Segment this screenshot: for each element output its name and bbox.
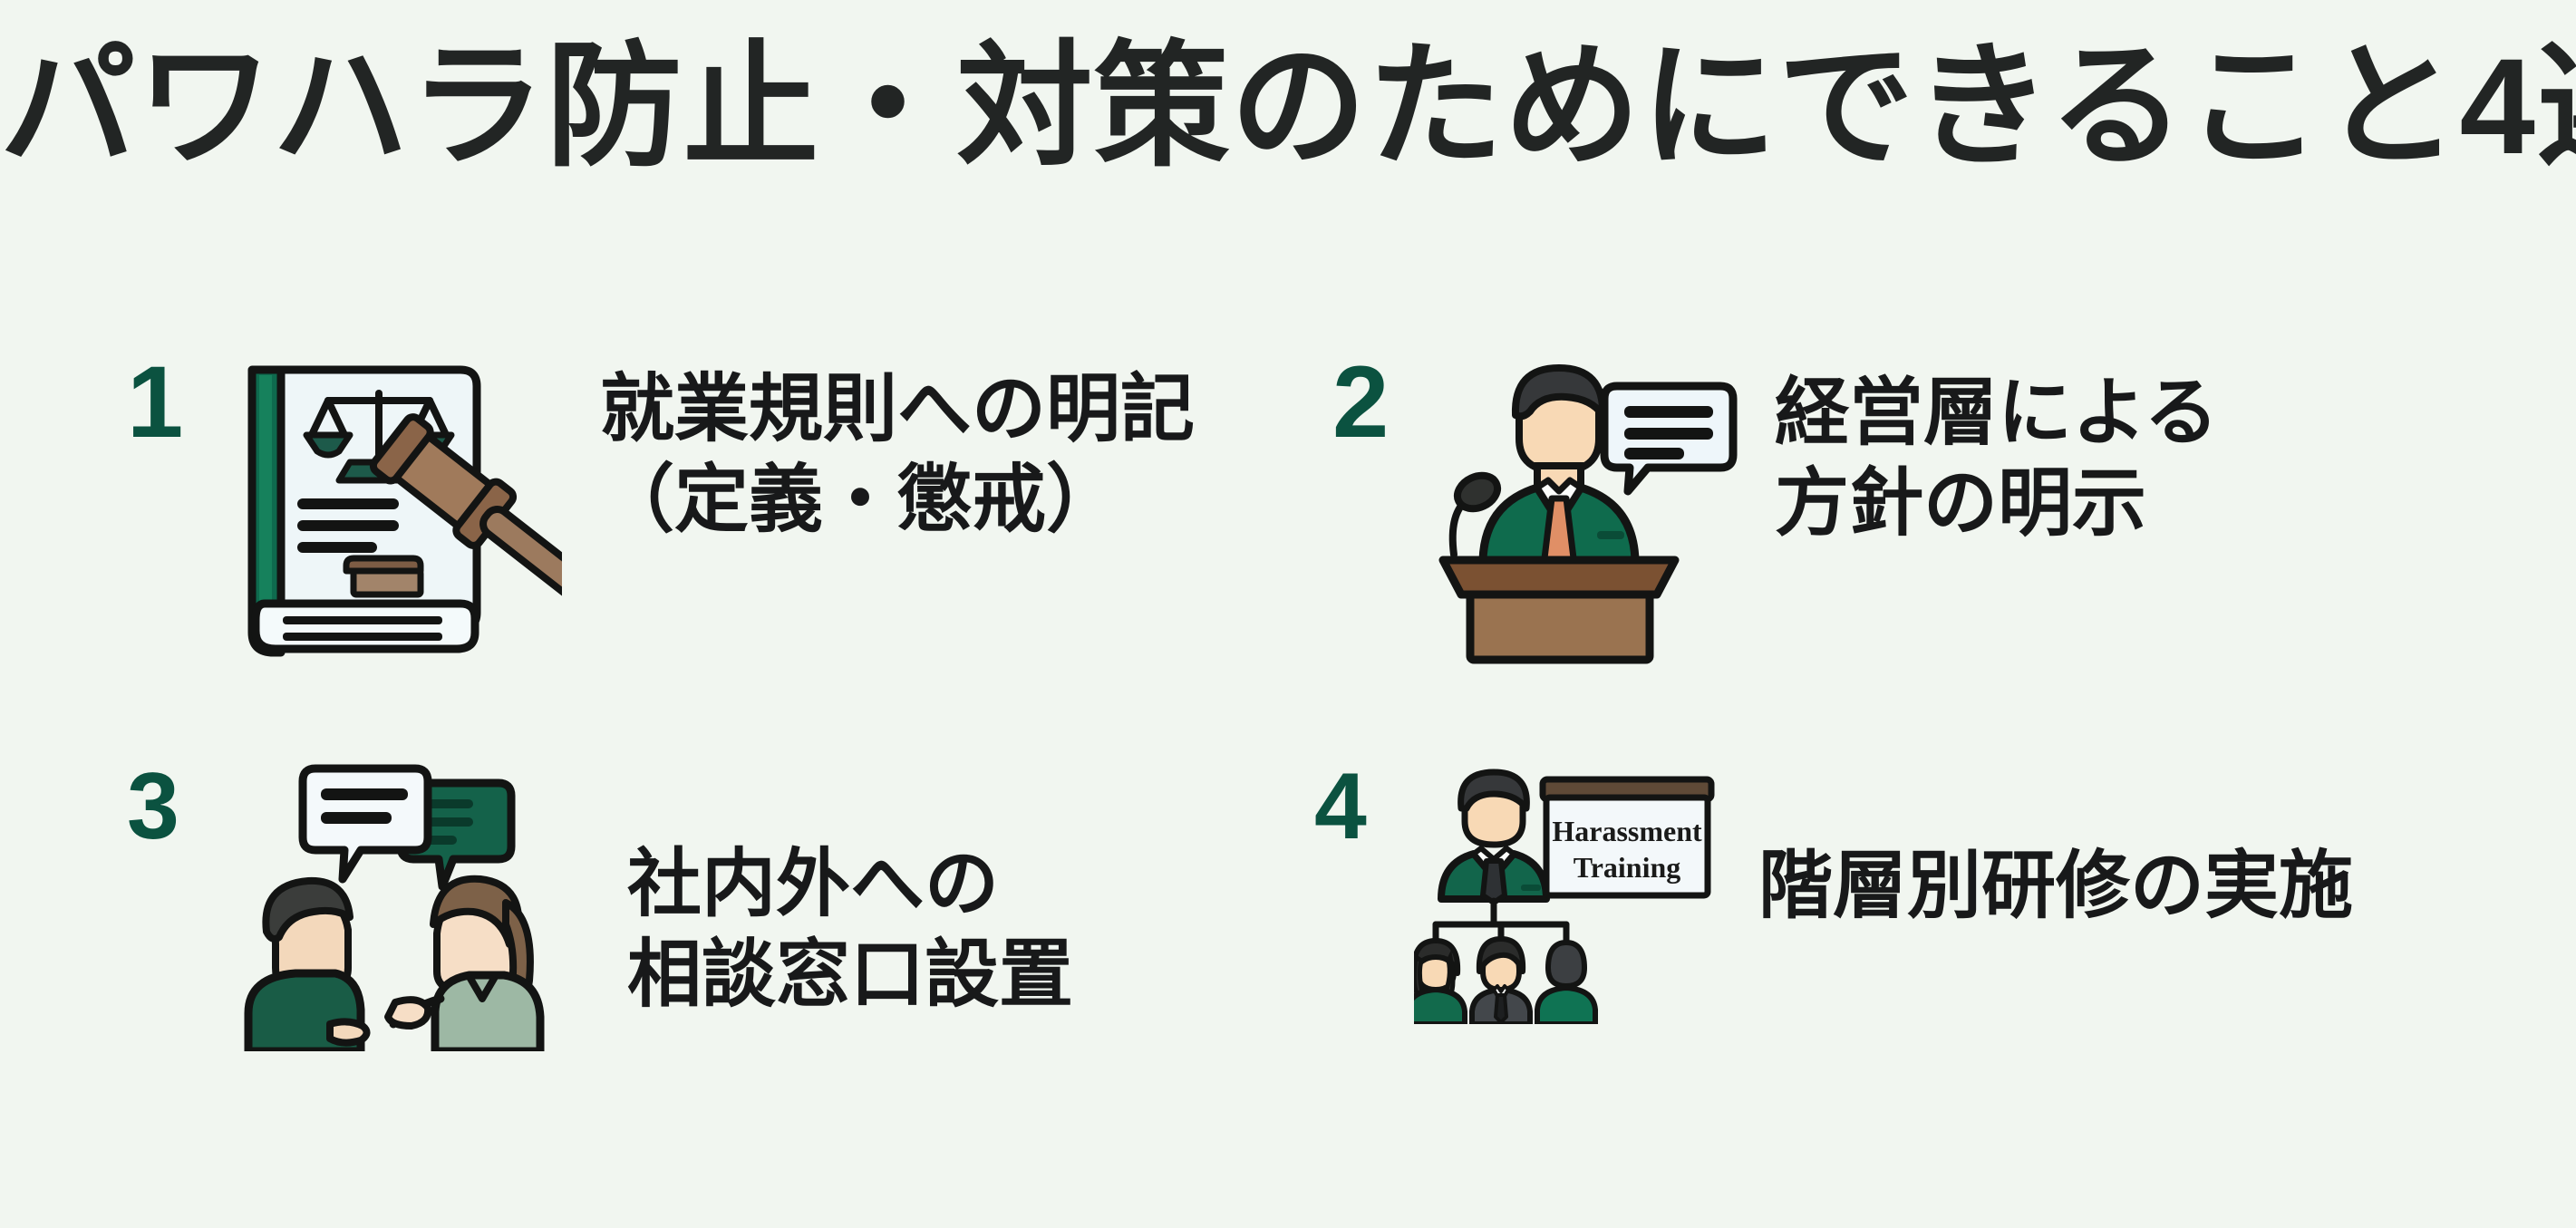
items-grid: 1 [0, 326, 2576, 1142]
list-item: 2 [1332, 344, 2219, 675]
page-title: パワハラ防止・対策のためにできること4選 [0, 38, 2576, 174]
item-label-line: 社内外への [627, 839, 1073, 930]
harassment-training-session-icon: Harassment Training [1414, 752, 1731, 1029]
list-item: 1 [127, 344, 1195, 666]
item-number: 4 [1314, 752, 1414, 854]
item-label: 階層別研修の実施 [1731, 752, 2353, 932]
executive-podium-speech-icon [1432, 344, 1740, 675]
item-label-line: 就業規則への明記 [600, 364, 1195, 455]
item-label-line: 経営層による [1775, 368, 2219, 459]
item-number: 1 [127, 344, 227, 453]
item-label-line: 階層別研修の実施 [1758, 841, 2353, 932]
whiteboard-text-line1: Harassment [1552, 815, 1702, 847]
law-book-gavel-icon [227, 344, 562, 666]
item-label: 就業規則への明記 （定義・懲戒） [562, 344, 1195, 546]
two-people-consultation-icon [227, 752, 607, 1056]
item-number: 2 [1332, 344, 1432, 453]
item-label: 経営層による 方針の明示 [1740, 344, 2219, 549]
slide-canvas: パワハラ防止・対策のためにできること4選 1 [0, 0, 2576, 1228]
item-label-line: 相談窓口設置 [627, 930, 1073, 1020]
item-label-line: 方針の明示 [1775, 459, 2219, 549]
list-item: 3 [127, 752, 1073, 1056]
item-number: 3 [127, 752, 227, 854]
whiteboard-text-line2: Training [1574, 851, 1681, 884]
item-label-line: （定義・懲戒） [600, 455, 1195, 546]
item-label: 社内外への 相談窓口設置 [607, 752, 1073, 1020]
list-item: 4 Harassment Training [1314, 752, 2353, 1029]
